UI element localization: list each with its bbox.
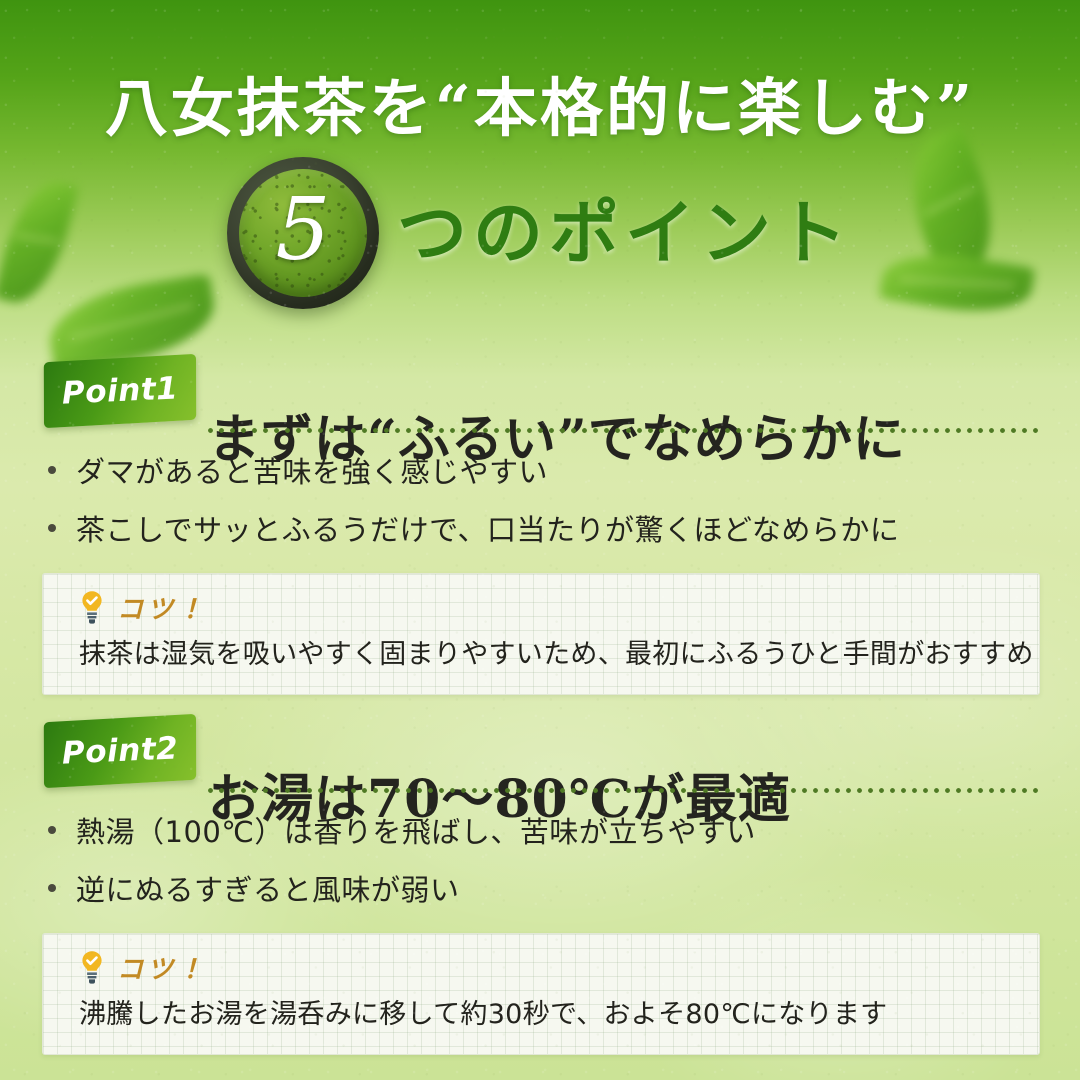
point-badge-2: Point2 bbox=[44, 714, 196, 788]
page-title: 八女抹茶を“本格的に楽しむ” bbox=[0, 58, 1080, 149]
page-subtitle: つのポイント bbox=[397, 198, 853, 268]
list-item-label: 熱湯（100℃）は香りを飛ばし、苦味が立ちやすい bbox=[76, 818, 756, 847]
infographic-canvas: 八女抹茶を“本格的に楽しむ” 5 つのポイント Point1 まずは“ふるい”で… bbox=[0, 0, 1080, 1080]
bullet-dot-icon bbox=[48, 524, 56, 532]
list-item-label: ダマがあると苦味を強く感じやすい bbox=[76, 458, 548, 487]
point-badge-1: Point1 bbox=[44, 354, 196, 428]
list-item: ダマがあると苦味を強く感じやすい bbox=[48, 458, 1080, 487]
point-header-2: Point2 お湯は70〜80℃が最適 bbox=[0, 712, 1080, 800]
list-item: 逆にぬるすぎると風味が弱い bbox=[48, 876, 1080, 905]
bullet-dot-icon bbox=[48, 466, 56, 474]
list-item: 茶こしでサッとふるうだけで、口当たりが驚くほどなめらかに bbox=[48, 516, 1080, 545]
dotted-divider bbox=[205, 428, 1043, 433]
point-badge-label: Point1 bbox=[61, 370, 179, 411]
point-header-1: Point1 まずは“ふるい”でなめらかに bbox=[0, 352, 1080, 440]
list-item-label: 茶こしでサッとふるうだけで、口当たりが驚くほどなめらかに bbox=[76, 516, 899, 545]
lightbulb-check-icon bbox=[79, 950, 105, 984]
tip-header: コツ！ bbox=[79, 588, 1011, 626]
point-section-2: Point2 お湯は70〜80℃が最適 熱湯（100℃）は香りを飛ばし、苦味が立… bbox=[0, 712, 1080, 1055]
tip-header: コツ！ bbox=[79, 948, 1011, 986]
leaf-vein bbox=[70, 304, 194, 340]
tip-body: 抹茶は湿気を吸いやすく固まりやすいため、最初にふるうひと手間がおすすめ bbox=[79, 640, 1011, 670]
point-badge-label: Point2 bbox=[61, 730, 179, 771]
tip-box-2: コツ！ 沸騰したお湯を湯呑みに移して約30秒で、およそ80℃になります bbox=[42, 933, 1040, 1055]
point-section-1: Point1 まずは“ふるい”でなめらかに ダマがあると苦味を強く感じやすい 茶… bbox=[0, 352, 1080, 695]
bullet-dot-icon bbox=[48, 884, 56, 892]
tip-label: コツ！ bbox=[117, 949, 207, 986]
dotted-divider bbox=[205, 788, 1043, 793]
tip-box-1: コツ！ 抹茶は湿気を吸いやすく固まりやすいため、最初にふるうひと手間がおすすめ bbox=[42, 573, 1040, 695]
lightbulb-check-icon bbox=[79, 590, 105, 624]
list-item: 熱湯（100℃）は香りを飛ばし、苦味が立ちやすい bbox=[48, 818, 1080, 847]
tip-body: 沸騰したお湯を湯呑みに移して約30秒で、およそ80℃になります bbox=[79, 1000, 1011, 1030]
tip-label: コツ！ bbox=[117, 589, 207, 626]
point-count-number: 5 bbox=[227, 157, 379, 309]
list-item-label: 逆にぬるすぎると風味が弱い bbox=[76, 876, 460, 905]
bullet-list-2: 熱湯（100℃）は香りを飛ばし、苦味が立ちやすい 逆にぬるすぎると風味が弱い bbox=[0, 818, 1080, 905]
matcha-bowl-image: 5 bbox=[227, 157, 379, 309]
bullet-list-1: ダマがあると苦味を強く感じやすい 茶こしでサッとふるうだけで、口当たりが驚くほど… bbox=[0, 458, 1080, 545]
bullet-dot-icon bbox=[48, 826, 56, 834]
subtitle-row: 5 つのポイント bbox=[0, 158, 1080, 308]
